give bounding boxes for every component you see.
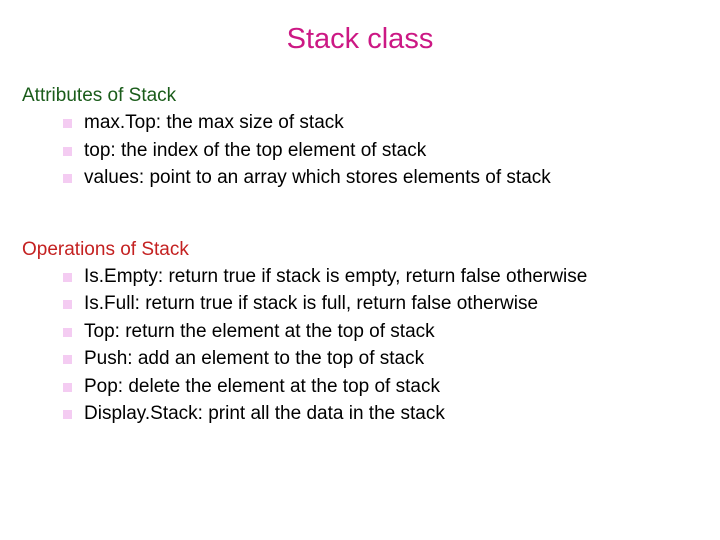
square-bullet-icon	[63, 147, 72, 156]
slide-body: Attributes of Stack max.Top: the max siz…	[0, 82, 720, 428]
list-item: Top: return the element at the top of st…	[0, 318, 720, 346]
square-bullet-icon	[63, 355, 72, 364]
list-item-label: Push: add an element to the top of stack	[84, 345, 712, 373]
list-item-label: Is.Full: return true if stack is full, r…	[84, 290, 712, 318]
square-bullet-icon	[63, 383, 72, 392]
page-title: Stack class	[0, 22, 720, 56]
square-bullet-icon	[63, 174, 72, 183]
list-item: top: the index of the top element of sta…	[0, 137, 720, 165]
section-operations: Operations of Stack Is.Empty: return tru…	[0, 236, 720, 428]
list-item: Is.Full: return true if stack is full, r…	[0, 290, 720, 318]
square-bullet-icon	[63, 119, 72, 128]
list-item: Push: add an element to the top of stack	[0, 345, 720, 373]
section-heading-operations: Operations of Stack	[0, 236, 720, 263]
list-item-label: Display.Stack: print all the data in the…	[84, 400, 712, 428]
square-bullet-icon	[63, 300, 72, 309]
section-heading-attributes: Attributes of Stack	[0, 82, 720, 109]
bullet-list-attributes: max.Top: the max size of stack top: the …	[0, 109, 720, 192]
list-item: max.Top: the max size of stack	[0, 109, 720, 137]
list-item-label: values: point to an array which stores e…	[84, 164, 712, 192]
list-item-label: top: the index of the top element of sta…	[84, 137, 712, 165]
list-item: Pop: delete the element at the top of st…	[0, 373, 720, 401]
section-attributes: Attributes of Stack max.Top: the max siz…	[0, 82, 720, 192]
bullet-list-operations: Is.Empty: return true if stack is empty,…	[0, 263, 720, 428]
list-item-label: Pop: delete the element at the top of st…	[84, 373, 712, 401]
list-item-label: Is.Empty: return true if stack is empty,…	[84, 263, 712, 291]
square-bullet-icon	[63, 410, 72, 419]
square-bullet-icon	[63, 273, 72, 282]
list-item: Display.Stack: print all the data in the…	[0, 400, 720, 428]
list-item: Is.Empty: return true if stack is empty,…	[0, 263, 720, 291]
section-spacer	[0, 192, 720, 236]
slide-canvas: Stack class Attributes of Stack max.Top:…	[0, 0, 720, 540]
list-item: values: point to an array which stores e…	[0, 164, 720, 192]
list-item-label: max.Top: the max size of stack	[84, 109, 712, 137]
list-item-label: Top: return the element at the top of st…	[84, 318, 712, 346]
square-bullet-icon	[63, 328, 72, 337]
